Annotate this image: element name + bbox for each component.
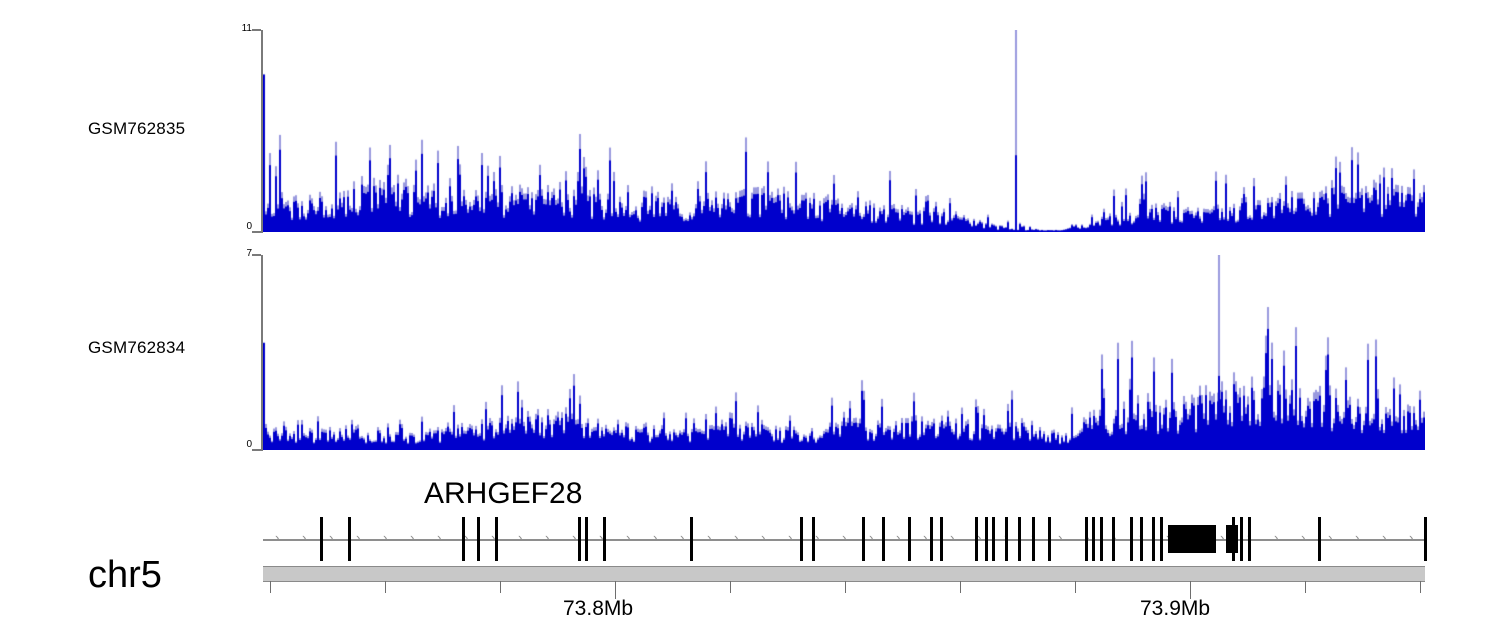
ruler-minor-tick (270, 581, 271, 593)
coordinate-ruler: 73.8Mb 73.9Mb chr5 (0, 0, 1500, 640)
ruler-minor-tick (730, 581, 731, 593)
chromosome-label-chr5: chr5 (88, 554, 162, 597)
ruler-minor-tick (960, 581, 961, 593)
ruler-minor-tick (845, 581, 846, 593)
ruler-minor-tick (500, 581, 501, 593)
ruler-minor-tick (1075, 581, 1076, 593)
ruler-minor-tick (1420, 581, 1421, 593)
ruler-label-73-9mb: 73.9Mb (1140, 597, 1210, 621)
ruler-label-73-8mb: 73.8Mb (563, 597, 633, 621)
ruler-minor-tick (385, 581, 386, 593)
ruler-minor-tick (1305, 581, 1306, 593)
genome-browser-view: GSM762835 11 0 GSM762834 7 0 ARHGEF28 ››… (0, 0, 1500, 640)
chromosome-ideogram-bar[interactable] (263, 566, 1425, 582)
